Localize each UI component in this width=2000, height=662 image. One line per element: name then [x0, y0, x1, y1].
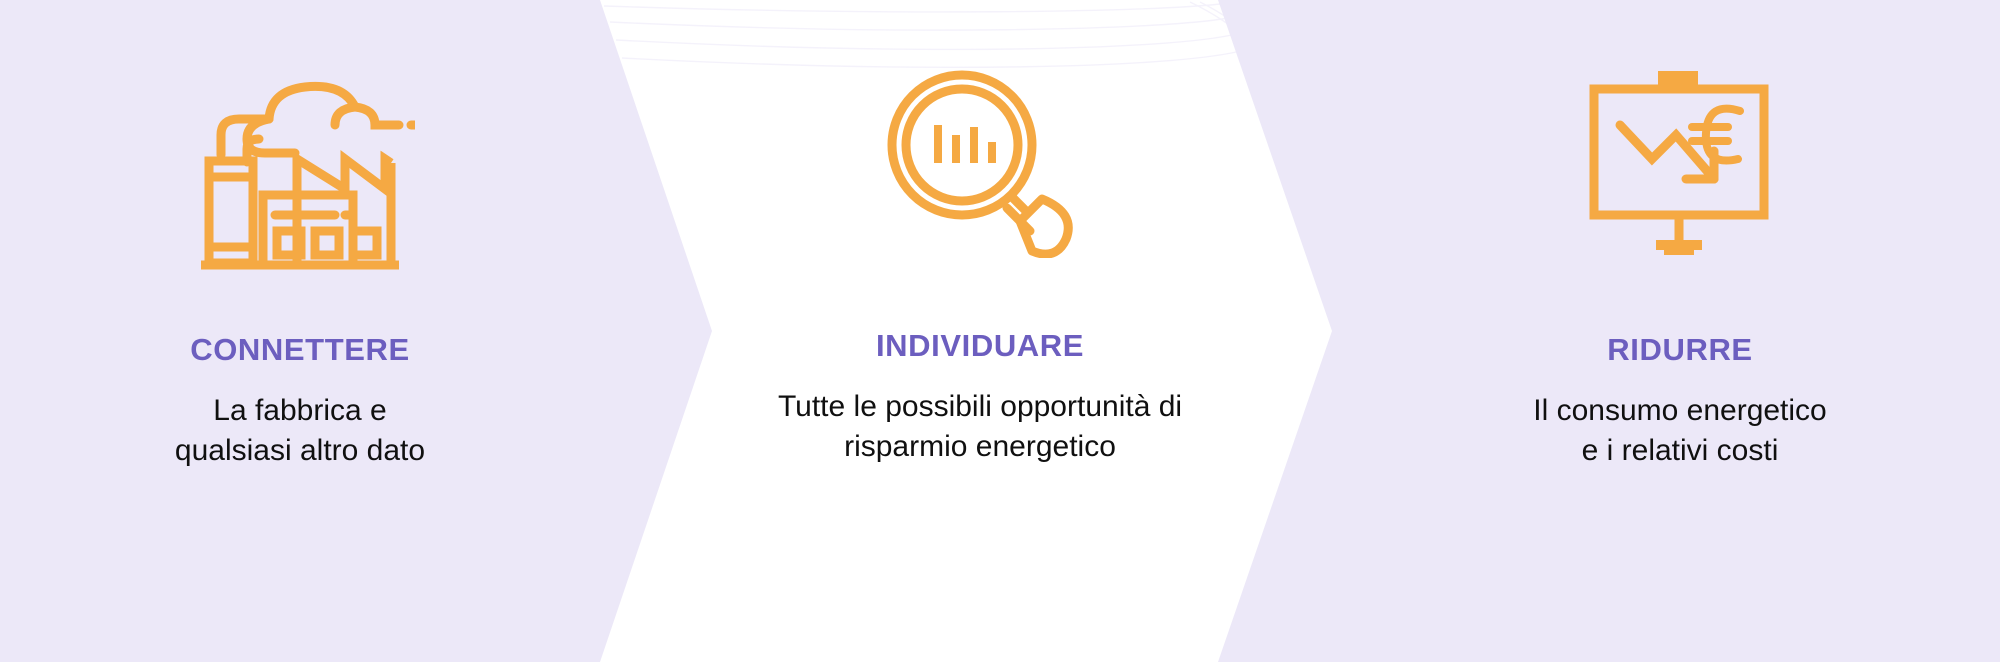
step-1-heading: CONNETTERE	[190, 334, 410, 365]
step-2-description: Tutte le possibili opportunità di rispar…	[778, 387, 1182, 466]
step-1-line-2: qualsiasi altro dato	[175, 431, 425, 471]
step-1-icon-container	[185, 0, 415, 314]
step-individuare: INDIVIDUARE Tutte le possibili opportuni…	[600, 0, 1360, 662]
step-2-heading: INDIVIDUARE	[876, 330, 1084, 361]
magnifier-inner-ring	[906, 89, 1018, 201]
step-3-line-1: Il consumo energetico	[1533, 391, 1827, 431]
step-2-line-1: Tutte le possibili opportunità di	[778, 387, 1182, 427]
magnifier-bar-chart-icon	[880, 63, 1080, 258]
step-2-icon-container	[880, 0, 1080, 310]
board-stand-base	[1664, 245, 1694, 255]
step-ridurre: RIDURRE Il consumo energetico e i relati…	[1360, 0, 2000, 662]
step-1-description: La fabbrica e qualsiasi altro dato	[175, 391, 425, 470]
factory-icon	[185, 57, 415, 272]
steps-row: CONNETTERE La fabbrica e qualsiasi altro…	[0, 0, 2000, 662]
step-3-line-2: e i relativi costi	[1533, 431, 1827, 471]
presentation-board-euro-decline-icon	[1580, 67, 1780, 262]
decline-arrow	[1620, 125, 1714, 179]
step-3-heading: RIDURRE	[1607, 334, 1752, 365]
step-2-line-2: risparmio energetico	[778, 427, 1182, 467]
infographic-stage: CONNETTERE La fabbrica e qualsiasi altro…	[0, 0, 2000, 662]
step-3-icon-container	[1580, 0, 1780, 314]
step-1-line-1: La fabbrica e	[175, 391, 425, 431]
step-3-description: Il consumo energetico e i relativi costi	[1533, 391, 1827, 470]
magnifier-bars	[938, 125, 992, 163]
step-connettere: CONNETTERE La fabbrica e qualsiasi altro…	[0, 0, 600, 662]
